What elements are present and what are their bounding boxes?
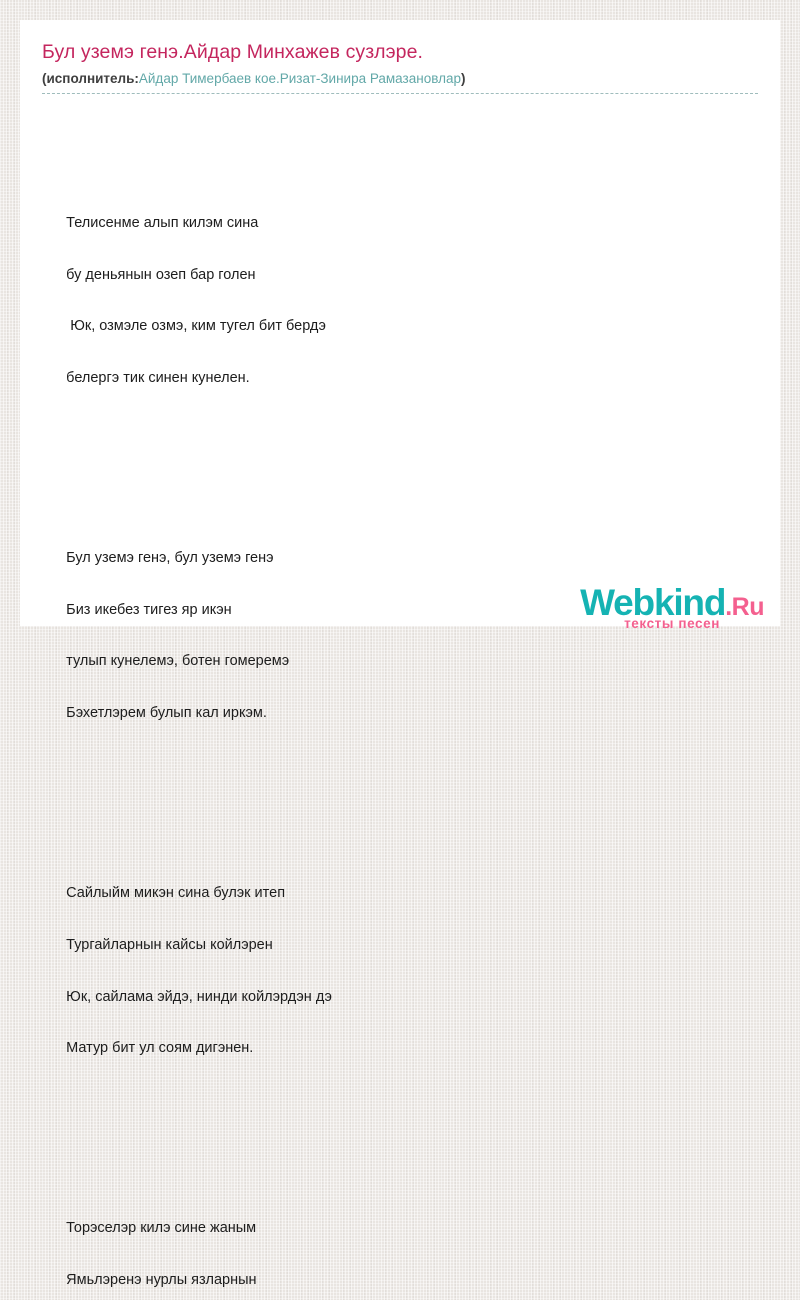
lyrics-page-card: Бул уземэ генэ.Айдар Минхажев сузлэре. (… bbox=[20, 20, 780, 626]
lyric-line: Сайлыйм микэн сина булэк итеп bbox=[66, 885, 285, 901]
lyrics-stanza: Телисенме алып килэм сина бу деньянын оз… bbox=[42, 185, 758, 417]
lyric-line: Матур бит ул соям дигэнен. bbox=[66, 1040, 253, 1056]
lyric-line: Телисенме алып килэм сина bbox=[66, 215, 258, 231]
lyrics-stanza: Торэселэр килэ сине жаным Ямьлэренэ нурл… bbox=[42, 1191, 758, 1300]
lyric-line: Юк, сайлама эйдэ, нинди койлэрдэн дэ bbox=[66, 989, 332, 1005]
lyric-line: Бэхетлэрем булып кал иркэм. bbox=[66, 705, 267, 721]
lyric-line: Бул уземэ генэ, бул уземэ генэ bbox=[66, 550, 273, 566]
lyric-line: Ямьлэренэ нурлы язларнын bbox=[66, 1272, 256, 1288]
performer-link[interactable]: Айдар Тимербаев кое.Ризат-Зинира Рамазан… bbox=[139, 71, 461, 86]
lyric-line: Юк, озмэле озмэ, ким тугел бит бердэ bbox=[66, 318, 326, 334]
song-header: Бул уземэ генэ.Айдар Минхажев сузлэре. (… bbox=[20, 20, 780, 88]
performer-close-paren: ) bbox=[461, 71, 466, 86]
lyric-line: Тургайларнын кайсы койлэрен bbox=[66, 937, 273, 953]
lyrics-stanza: Бул уземэ генэ, бул уземэ генэ Биз икебе… bbox=[42, 520, 758, 752]
lyric-line: тулып кунелемэ, ботен гомеремэ bbox=[66, 653, 289, 669]
lyrics-body: Телисенме алып килэм сина бу деньянын оз… bbox=[20, 94, 780, 1300]
lyric-line: бу деньянын озеп бар голен bbox=[66, 267, 255, 283]
lyric-line: Биз икебез тигез яр икэн bbox=[66, 602, 231, 618]
lyrics-stanza: Сайлыйм микэн сина булэк итеп Тургайларн… bbox=[42, 856, 758, 1088]
site-logo-tld: .Ru bbox=[725, 593, 764, 621]
lyric-line: Торэселэр килэ сине жаным bbox=[66, 1220, 256, 1236]
site-logo[interactable]: Webkind.Ru тексты песен bbox=[580, 584, 764, 631]
lyric-line: белергэ тик синен кунелен. bbox=[66, 370, 250, 386]
performer-line: (исполнитель:Айдар Тимербаев кое.Ризат-З… bbox=[42, 70, 758, 88]
page-title: Бул уземэ генэ.Айдар Минхажев сузлэре. bbox=[42, 40, 758, 64]
performer-label: (исполнитель: bbox=[42, 71, 139, 86]
